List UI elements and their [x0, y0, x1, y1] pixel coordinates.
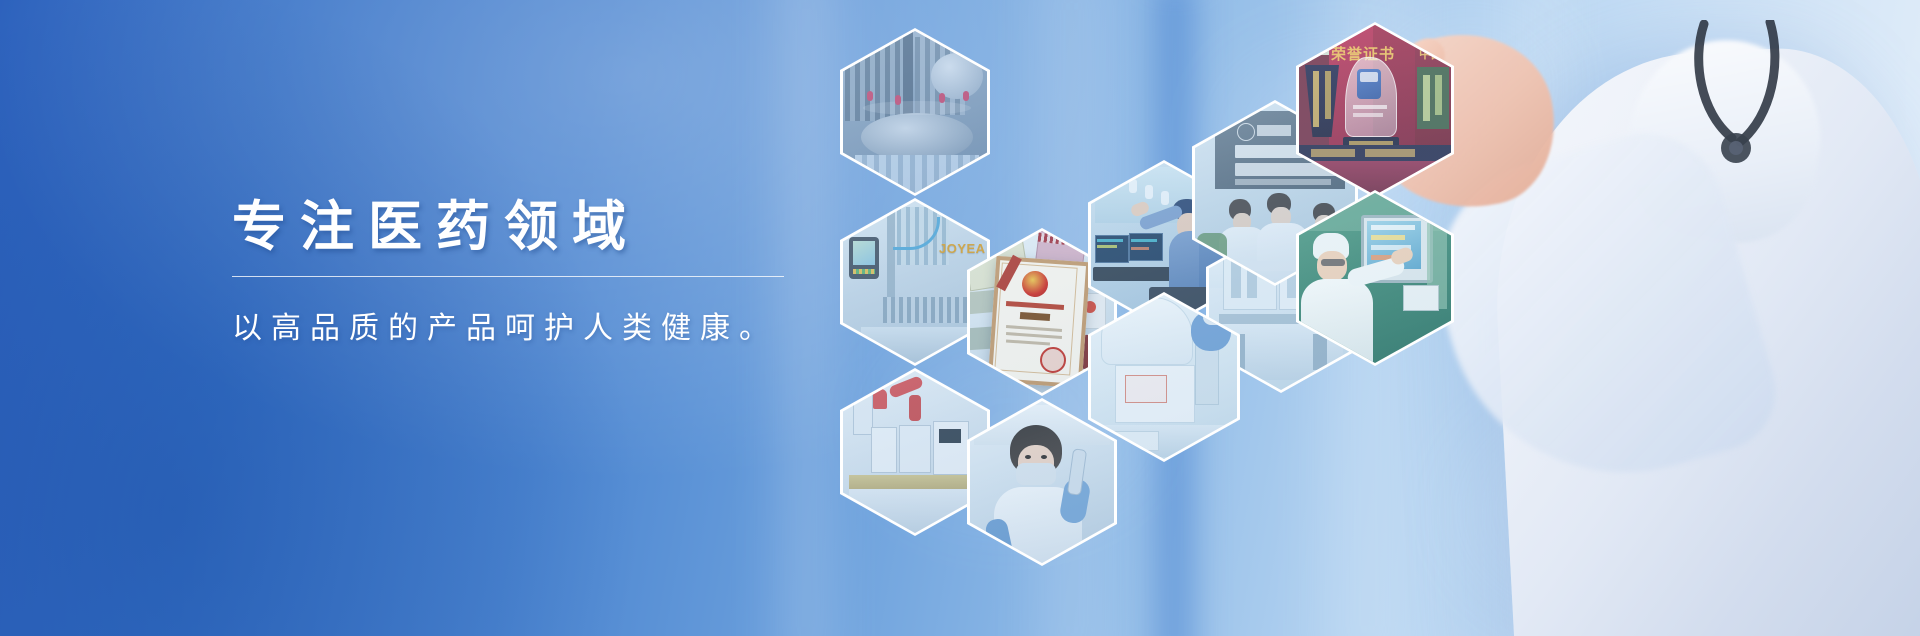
- page-title: 专注医药领域: [232, 196, 872, 260]
- hero-text-block: 专注医药领域 以高品质的产品呵护人类健康。: [232, 196, 872, 347]
- hexagon-lab-technician-with-pipette[interactable]: [970, 401, 1114, 563]
- page-subtitle: 以高品质的产品呵护人类健康。: [232, 303, 872, 347]
- hexagon-capsule-filling-machine[interactable]: [843, 31, 987, 193]
- hexagon-analytical-lab-instruments[interactable]: [843, 371, 987, 533]
- title-divider: [232, 276, 784, 277]
- hero-banner: JOYEA: [0, 0, 1920, 636]
